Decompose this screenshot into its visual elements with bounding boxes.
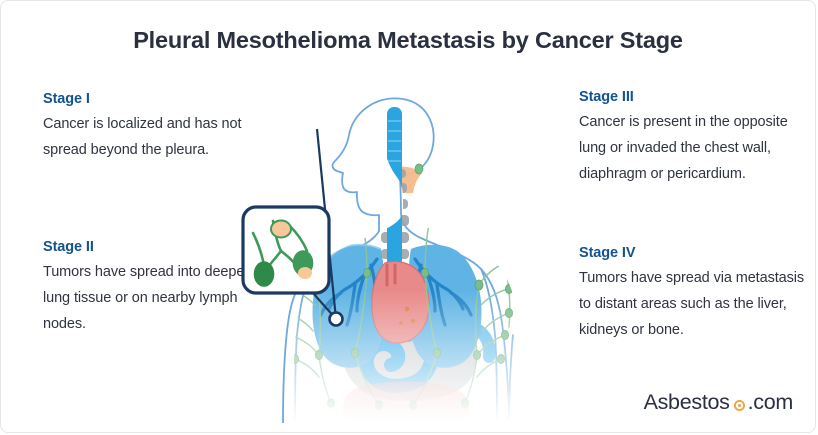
logo-tld: .com <box>748 390 793 415</box>
stage-3-heading: Stage III <box>579 89 809 105</box>
illustration-body <box>237 73 567 423</box>
stage-block-2: Stage II Tumors have spread into deeper … <box>43 239 258 337</box>
logo-wordmark: Asbestos <box>644 390 730 415</box>
stage-1-heading: Stage I <box>43 91 258 107</box>
stage-4-body: Tumors have spread via metastasis to dis… <box>579 265 809 343</box>
stage-block-4: Stage IV Tumors have spread via metastas… <box>579 245 809 343</box>
stage-2-body: Tumors have spread into deeper lung tiss… <box>43 259 258 337</box>
orange-dot-icon <box>734 400 745 411</box>
stage-2-heading: Stage II <box>43 239 258 255</box>
anatomy-illustration <box>237 73 567 423</box>
stage-3-body: Cancer is present in the opposite lung o… <box>579 109 809 187</box>
stage-1-body: Cancer is localized and has not spread b… <box>43 111 258 163</box>
stage-block-1: Stage I Cancer is localized and has not … <box>43 91 258 163</box>
stage-4-heading: Stage IV <box>579 245 809 261</box>
infographic-card: Pleural Mesothelioma Metastasis by Cance… <box>0 0 816 433</box>
asbestos-com-logo[interactable]: Asbestos .com <box>644 390 793 415</box>
page-title: Pleural Mesothelioma Metastasis by Cance… <box>1 27 815 54</box>
stage-block-3: Stage III Cancer is present in the oppos… <box>579 89 809 187</box>
